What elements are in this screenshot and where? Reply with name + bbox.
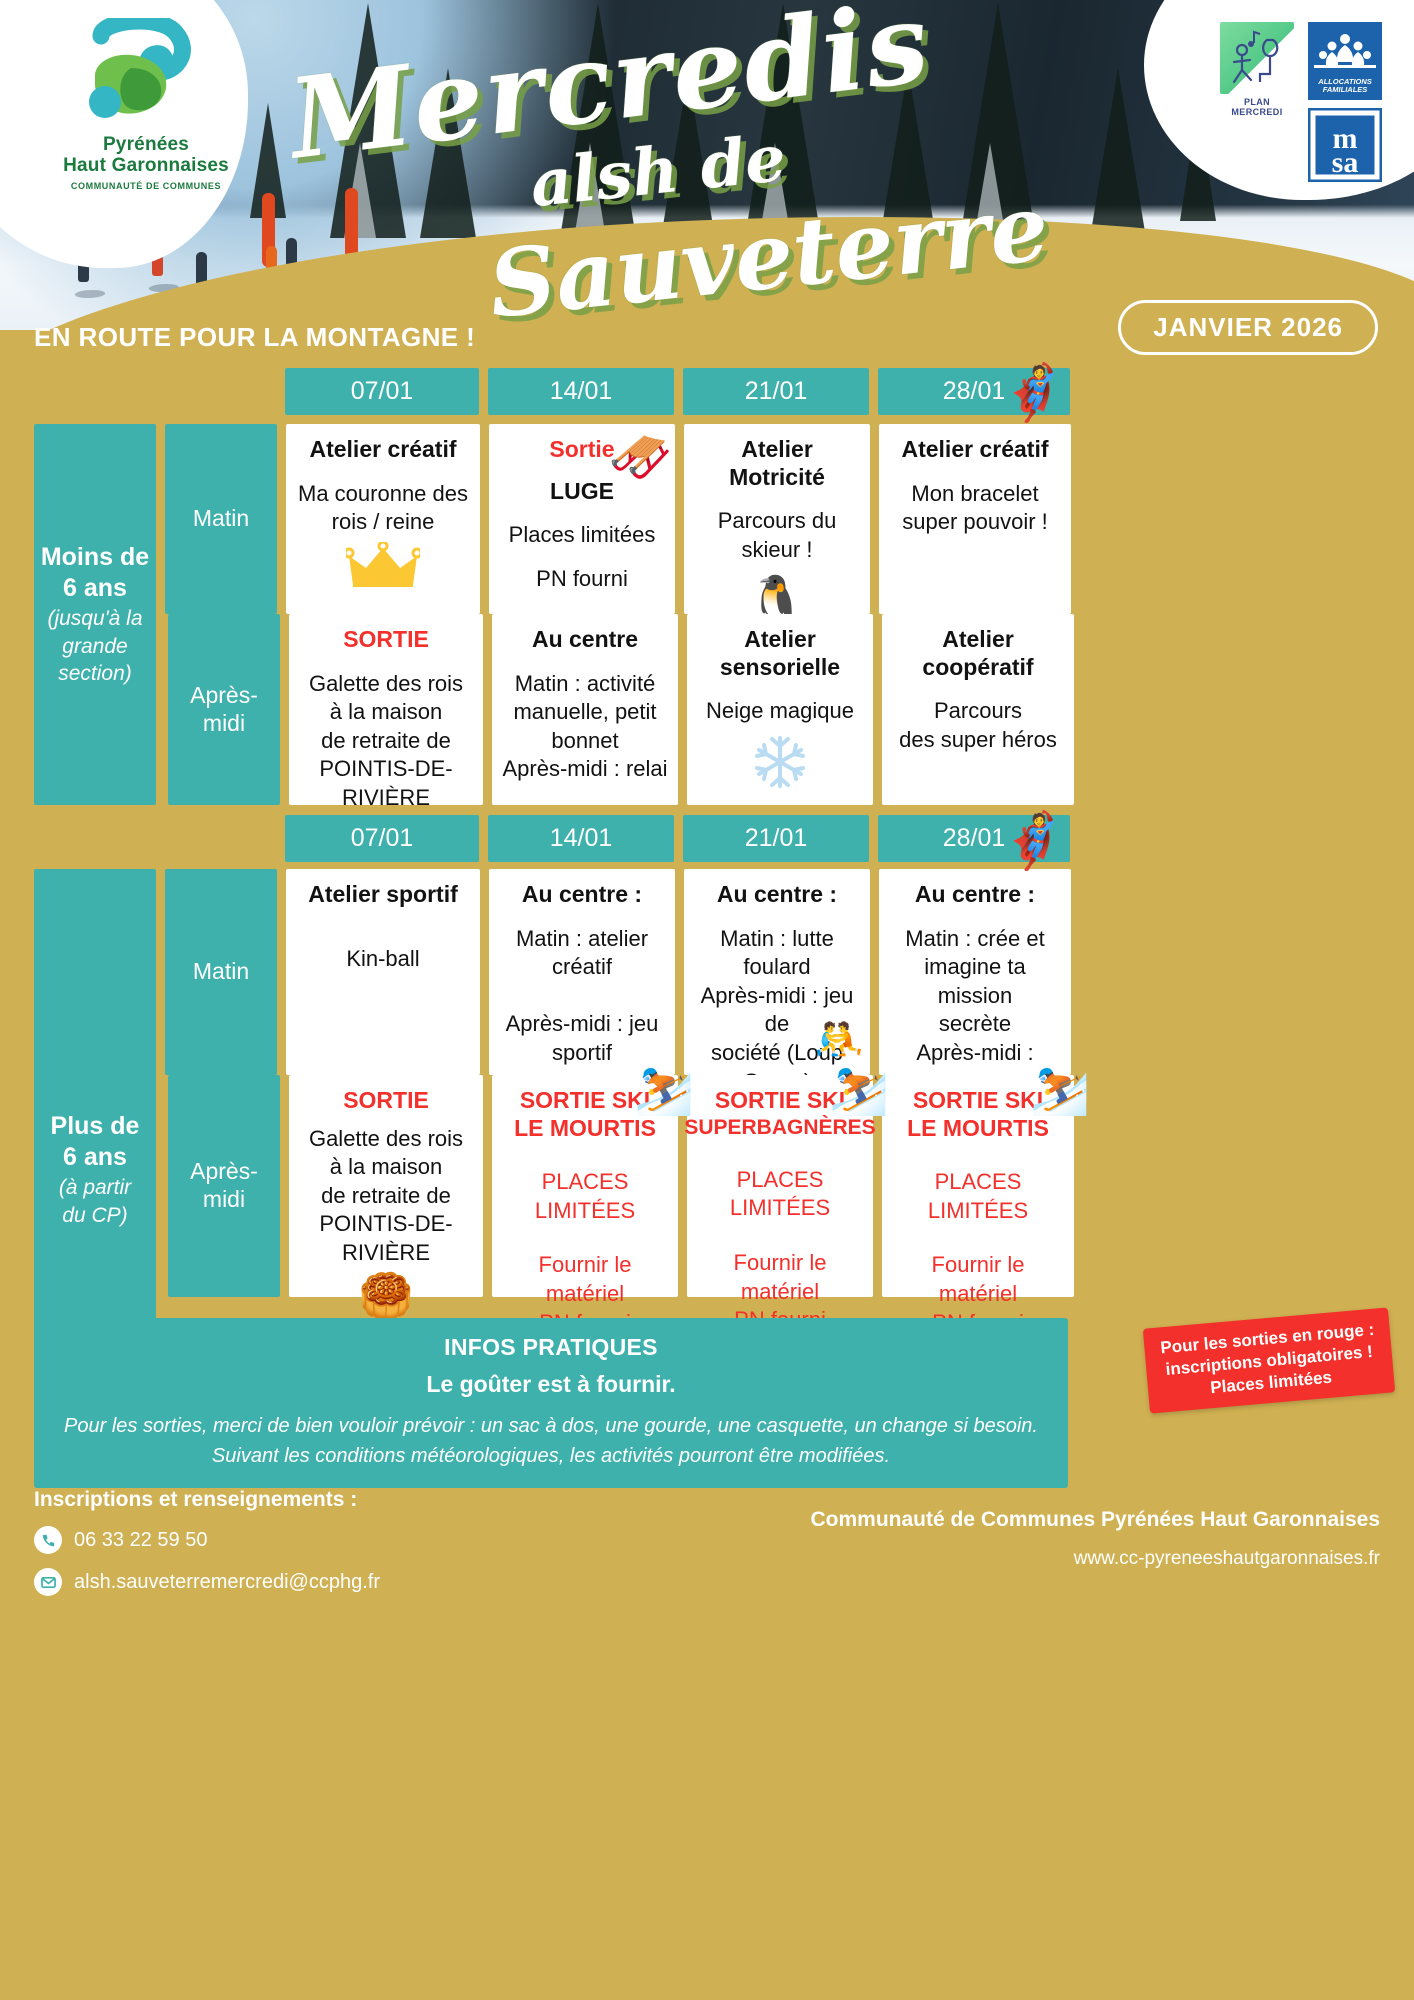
msa-logo: m sa	[1308, 108, 1382, 182]
slot-line2: midi	[203, 710, 245, 738]
activity-cell-s2-matin-2801: Au centre : Matin : crée etimagine ta mi…	[879, 869, 1071, 1075]
activity-body: Galette des roisà la maisonde retraite d…	[309, 1125, 463, 1268]
activity-title: Atelier créatif	[309, 436, 456, 464]
activity-title: Atelier créatif	[901, 436, 1048, 464]
age-main-line1: Plus de	[51, 1111, 140, 1142]
ccphg-logo-mark	[71, 18, 221, 128]
slot-label-apresmidi-s2: Après- midi	[168, 1075, 280, 1297]
slot-label-matin-s2: Matin	[165, 869, 277, 1075]
activity-cell-s1-pm-1401: Au centre Matin : activitémanuelle, peti…	[492, 614, 678, 805]
red-registration-tag: Pour les sorties en rouge : inscriptions…	[1142, 1307, 1395, 1413]
activity-cell-s2-pm-2801: SORTIE SKI LE MOURTIS PLACES LIMITÉES Fo…	[882, 1075, 1074, 1297]
age-sub-line2: du CP)	[62, 1203, 127, 1229]
plan-mercredi-mark	[1220, 22, 1294, 94]
ccphg-logo: Pyrénées Haut Garonnaises COMMUNAUTÉ DE …	[46, 18, 246, 191]
slot-line1: Après-	[190, 1158, 258, 1186]
slot-line1: Après-	[190, 682, 258, 710]
ccphg-logo-line2: Haut Garonnaises	[46, 155, 246, 176]
activity-body: PLACES LIMITÉES	[697, 1166, 863, 1223]
infos-line-1: Pour les sorties, merci de bien vouloir …	[58, 1412, 1044, 1440]
activity-title: SORTIE	[343, 626, 429, 654]
activity-note: PN fourni	[536, 565, 628, 594]
activity-cell-s1-matin-2101: Atelier Motricité Parcours du skieur ! 🐧	[684, 424, 870, 614]
activity-body: Mon braceletsuper pouvoir !	[902, 480, 1048, 537]
slot-line2: midi	[203, 1186, 245, 1214]
activity-cell-s2-matin-2101: Au centre : Matin : lutte foulardAprès-m…	[684, 869, 870, 1075]
activity-body: Kin-ball	[346, 945, 419, 974]
activity-title-line2: LE MOURTIS	[907, 1115, 1049, 1143]
mail-icon	[34, 1568, 62, 1596]
age-sub-line1: (à partir	[59, 1175, 131, 1201]
footer-email-row[interactable]: alsh.sauveterremercredi@ccphg.fr	[34, 1568, 380, 1596]
footer-website[interactable]: www.cc-pyreneeshautgaronnaises.fr	[811, 1548, 1381, 1570]
crown-icon	[346, 542, 420, 604]
activity-body: Places limitées	[509, 521, 656, 550]
activity-title: Atelier Motricité	[694, 436, 860, 491]
age-sub-line3: section)	[58, 661, 132, 687]
phone-icon	[34, 1526, 62, 1554]
activity-title-line1: SORTIE SKI	[913, 1087, 1043, 1115]
section1-row-matin: Moins de 6 ans (jusqu'à la grande sectio…	[34, 424, 1379, 614]
footer-phone-row[interactable]: 06 33 22 59 50	[34, 1526, 380, 1554]
activity-title: Sortie	[549, 436, 614, 464]
age-main-line2: 6 ans	[63, 573, 127, 604]
partner-logos: PLAN MERCREDI ALLOC	[1220, 22, 1382, 182]
infos-line-2: Suivant les conditions météorologiques, …	[58, 1442, 1044, 1470]
date-cell-1401-s1: 14/01	[488, 368, 674, 415]
section2-row-matin: Plus de 6 ans (à partir du CP) Matin Ate…	[34, 869, 1379, 1075]
age-sub-line1: (jusqu'à la	[47, 606, 142, 632]
caf-msa-logos: ALLOCATIONS FAMILIALES m sa	[1308, 22, 1382, 182]
date-header-row-section1: 07/01 14/01 21/01 28/01	[285, 368, 1379, 415]
activity-cell-s2-pm-2101: SORTIE SKI SUPERBAGNÈRES PLACES LIMITÉES…	[687, 1075, 873, 1297]
activity-title: Au centre :	[717, 881, 837, 909]
plan-mercredi-line2: MERCREDI	[1220, 107, 1294, 117]
activity-cell-s2-matin-1401: Au centre : Matin : ateliercréatifAprès-…	[489, 869, 675, 1075]
activity-title-line1: SORTIE SKI	[520, 1087, 650, 1115]
activity-cell-s2-matin-0701: Atelier sportif Kin-ball	[286, 869, 480, 1075]
footer-email: alsh.sauveterremercredi@ccphg.fr	[74, 1571, 380, 1594]
page-tagline: EN ROUTE POUR LA MONTAGNE !	[34, 322, 475, 353]
activity-subtitle: LUGE	[550, 478, 614, 505]
date-cell-1401-s2: 14/01	[488, 815, 674, 862]
age-label-moins-6ans: Moins de 6 ans (jusqu'à la grande sectio…	[34, 424, 156, 805]
infos-pratiques-box: INFOS PRATIQUES Le goûter est à fournir.…	[34, 1318, 1068, 1488]
activity-body: Parcoursdes super héros	[899, 697, 1057, 754]
activity-body: Matin : activitémanuelle, petitbonnetApr…	[502, 670, 667, 784]
activity-cell-s1-matin-0701: Atelier créatif Ma couronne desrois / re…	[286, 424, 480, 614]
date-cell-2101-s1: 21/01	[683, 368, 869, 415]
footer-org-name: Communauté de Communes Pyrénées Haut Gar…	[811, 1508, 1381, 1532]
age-main-line1: Moins de	[41, 542, 149, 573]
activity-title: Atelier sensorielle	[697, 626, 863, 681]
month-badge: JANVIER 2026	[1118, 300, 1378, 355]
footer-contact-title: Inscriptions et renseignements :	[34, 1488, 380, 1512]
activity-cell-s2-pm-1401: SORTIE SKI LE MOURTIS PLACES LIMITÉES Fo…	[492, 1075, 678, 1297]
date-cell-2801-s2: 28/01	[878, 815, 1070, 862]
footer-org-block: Communauté de Communes Pyrénées Haut Gar…	[811, 1508, 1381, 1570]
plan-mercredi-text: PLAN MERCREDI	[1220, 97, 1294, 118]
activity-cell-s1-matin-1401: Sortie LUGE Places limitées PN fourni 🛷	[489, 424, 675, 614]
activity-cell-s1-pm-0701: SORTIE Galette des roisà la maisonde ret…	[289, 614, 483, 805]
galette-icon: 🥮	[359, 1272, 414, 1322]
activity-cell-s1-matin-2801: Atelier créatif Mon braceletsuper pouvoi…	[879, 424, 1071, 614]
activity-title: SORTIE	[343, 1087, 429, 1115]
svg-text:sa: sa	[1332, 146, 1359, 179]
activity-title-line2: LE MOURTIS	[514, 1115, 656, 1143]
footer-phone: 06 33 22 59 50	[74, 1529, 207, 1552]
activity-body: Parcours du skieur !	[694, 507, 860, 564]
activity-body: PLACES LIMITÉES	[892, 1168, 1064, 1225]
activity-title: Au centre :	[522, 881, 642, 909]
activity-cell-s1-pm-2801: Atelier coopératif Parcoursdes super hér…	[882, 614, 1074, 805]
hero-banner: Pyrénées Haut Garonnaises COMMUNAUTÉ DE …	[0, 0, 1414, 330]
svg-text:FAMILIALES: FAMILIALES	[1323, 85, 1368, 94]
date-cell-2801-s1: 28/01	[878, 368, 1070, 415]
activity-body: Neige magique	[706, 697, 854, 726]
activity-title: Atelier coopératif	[892, 626, 1064, 681]
caf-logo: ALLOCATIONS FAMILIALES	[1308, 22, 1382, 100]
plan-mercredi-line1: PLAN	[1220, 97, 1294, 107]
activity-title-line1: SORTIE SKI	[715, 1087, 845, 1115]
activity-title: Au centre :	[915, 881, 1035, 909]
date-header-row-section2: 07/01 14/01 21/01 28/01	[285, 815, 1379, 862]
activity-body: PLACES LIMITÉES	[502, 1168, 668, 1225]
ccphg-logo-line1: Pyrénées	[46, 134, 246, 155]
activity-cell-s2-pm-0701: SORTIE Galette des roisà la maisonde ret…	[289, 1075, 483, 1297]
activity-body: Matin : lutte foulardAprès-midi : jeu de…	[694, 925, 860, 1097]
activity-body: Matin : ateliercréatifAprès-midi : jeusp…	[506, 925, 659, 1068]
activity-title-line2: SUPERBAGNÈRES	[684, 1115, 875, 1140]
slot-label-apresmidi-s1: Après- midi	[168, 614, 280, 805]
infos-subtitle: Le goûter est à fournir.	[58, 1371, 1044, 1398]
ccphg-logo-subtitle: COMMUNAUTÉ DE COMMUNES	[46, 181, 246, 191]
activity-cell-s1-pm-2101: Atelier sensorielle Neige magique	[687, 614, 873, 805]
footer-contact-block: Inscriptions et renseignements : 06 33 2…	[34, 1488, 380, 1596]
activity-body: Ma couronne desrois / reine	[298, 480, 468, 537]
slot-label-matin-s1: Matin	[165, 424, 277, 614]
date-cell-2101-s2: 21/01	[683, 815, 869, 862]
section1-row-apresmidi: Après- midi SORTIE Galette des roisà la …	[168, 614, 1379, 805]
activity-body: Galette des roisà la maisonde retraite d…	[309, 670, 463, 813]
sledder-icon: 🛷	[608, 428, 673, 488]
infos-title: INFOS PRATIQUES	[58, 1334, 1044, 1361]
age-main-line2: 6 ans	[63, 1142, 127, 1173]
poster-page: Pyrénées Haut Garonnaises COMMUNAUTÉ DE …	[0, 0, 1414, 2000]
snowflake-icon	[752, 734, 808, 801]
activity-title: Atelier sportif	[308, 881, 458, 909]
age-sub-line2: grande	[62, 634, 127, 660]
plan-mercredi-logo: PLAN MERCREDI	[1220, 22, 1294, 118]
date-cell-0701-s2: 07/01	[285, 815, 479, 862]
date-cell-0701-s1: 07/01	[285, 368, 479, 415]
activity-title: Au centre	[532, 626, 638, 654]
section2-row-apresmidi: Après- midi SORTIE Galette des roisà la …	[168, 1075, 1379, 1297]
